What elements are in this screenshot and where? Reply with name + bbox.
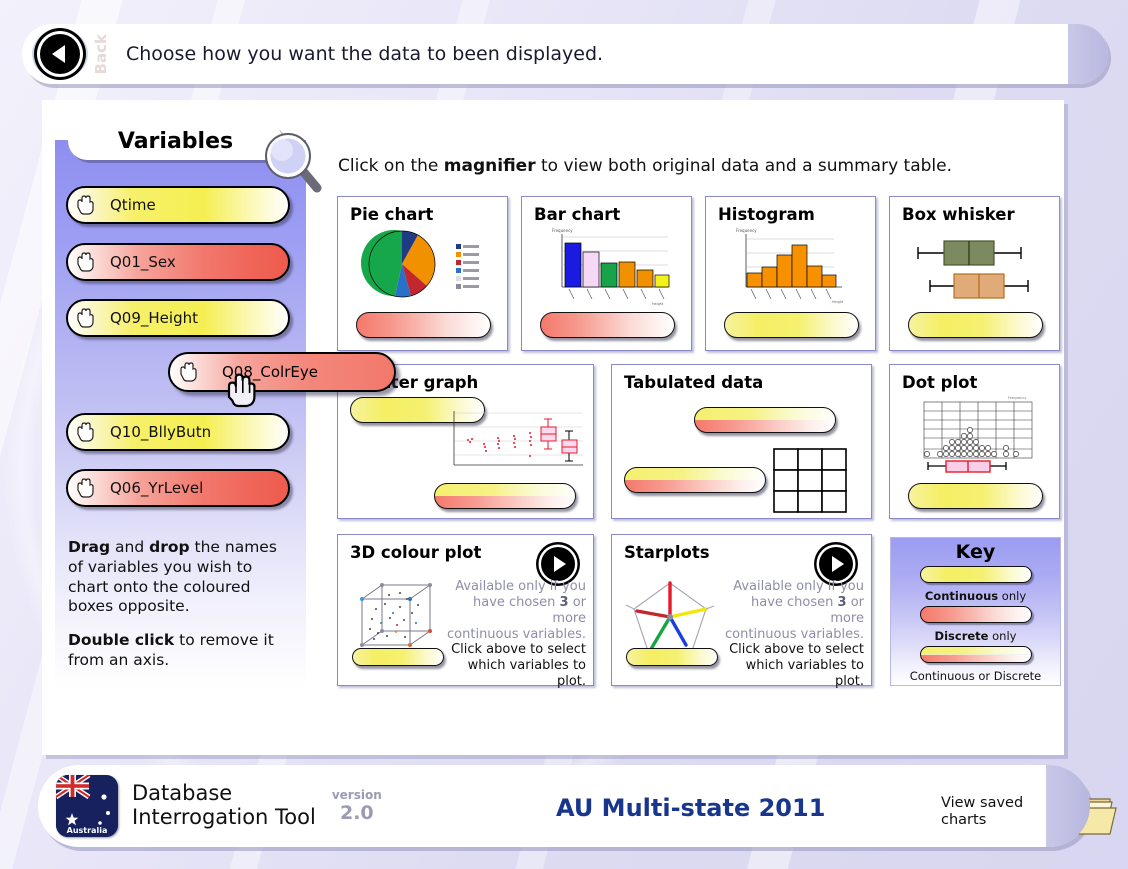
dot-plot-thumb: Frequency <box>898 391 1050 475</box>
drop-slot-continuous[interactable] <box>908 312 1043 338</box>
drop-slot-both-1[interactable] <box>694 407 836 433</box>
dataset-title: AU Multi-state 2011 <box>556 794 825 822</box>
drag-hand-icon <box>68 188 104 222</box>
version-number: 2.0 <box>332 802 382 824</box>
card-title: Starplots <box>624 543 710 562</box>
key-caption-continuous: Continuous only <box>891 589 1060 603</box>
note-line-1: Available only if you <box>722 579 864 595</box>
app-name-line2: Interrogation Tool <box>132 806 316 830</box>
availability-note: Available only if you have chosen 3 or m… <box>722 579 864 690</box>
version-info: version 2.0 <box>332 788 382 824</box>
note-pre: have chosen <box>751 595 838 610</box>
note-line-1: Available only if you <box>446 579 586 595</box>
key-caption-discrete: Discrete only <box>891 629 1060 643</box>
key-swatch-both <box>920 646 1032 663</box>
note-count: 3 <box>560 595 569 610</box>
back-button[interactable] <box>32 31 88 77</box>
key-panel: Key Continuous only Discrete only Contin… <box>890 537 1061 686</box>
drop-slot-continuous[interactable] <box>724 312 859 338</box>
header-bar: Back Choose how you want the data to bee… <box>22 24 1108 84</box>
svg-text:Frequency: Frequency <box>552 228 573 233</box>
svg-text:Frequency: Frequency <box>1008 396 1027 400</box>
card-dot-plot[interactable]: Dot plot Frequency <box>889 364 1060 519</box>
card-histogram[interactable]: Histogram Frequency Height <box>705 196 876 351</box>
starplot-thumb <box>624 575 720 657</box>
card-box-whisker[interactable]: Box whisker <box>889 196 1060 351</box>
help-mid: and <box>110 538 149 556</box>
card-title: Histogram <box>718 205 815 224</box>
drop-slot-both-2[interactable] <box>624 467 766 493</box>
grab-hand-cursor <box>222 370 264 418</box>
drop-slot-discrete[interactable] <box>356 312 491 338</box>
card-title: Tabulated data <box>624 373 763 392</box>
note-line-3: continuous variables. <box>722 627 864 643</box>
scatter-graph-thumb <box>438 407 588 479</box>
help-line-drag-drop: Drag and drop the names of variables you… <box>68 538 293 617</box>
variable-chip-label: Q01_Sex <box>104 253 176 271</box>
bar-chart-thumb: Frequency Height <box>540 225 680 307</box>
card-3d-colour-plot[interactable]: 3D colour plot Available only if you hav… <box>337 534 594 686</box>
drop-slot-both-x[interactable] <box>434 483 576 509</box>
svg-text:Frequency: Frequency <box>736 228 757 233</box>
note-line-2: have chosen 3 or more <box>446 595 586 627</box>
help-bold-dblclick: Double click <box>68 631 174 649</box>
back-button-label: Back <box>92 34 110 74</box>
sidebar-help-text: Drag and drop the names of variables you… <box>68 538 293 671</box>
hint-bold: magnifier <box>444 156 536 176</box>
key-caption-rest: only <box>988 629 1016 643</box>
note-pre: have chosen <box>473 595 560 610</box>
svg-text:Height: Height <box>652 302 664 306</box>
box-whisker-thumb <box>904 231 1049 303</box>
table-grid-thumb <box>772 447 850 519</box>
variable-chip-q10-bllybutn[interactable]: Q10_BllyButn <box>66 413 290 451</box>
back-arrow-icon <box>40 34 80 74</box>
key-entry-continuous: Continuous only <box>891 566 1060 603</box>
view-saved-charts-label: View saved charts <box>941 795 1023 830</box>
card-title: Dot plot <box>902 373 977 392</box>
variable-chip-label: Qtime <box>104 196 156 214</box>
variable-chip-q06-yrlevel[interactable]: Q06_YrLevel <box>66 469 290 507</box>
card-pie-chart[interactable]: Pie chart <box>337 196 508 351</box>
drag-hand-icon <box>68 415 104 449</box>
key-entry-discrete: Discrete only <box>891 606 1060 643</box>
drop-slot-continuous[interactable] <box>352 648 444 666</box>
variable-chip-label: Q09_Height <box>104 309 198 327</box>
histogram-thumb: Frequency Height <box>724 225 864 307</box>
magnifier-hint: Click on the magnifier to view both orig… <box>338 156 952 176</box>
variable-chip-q01-sex[interactable]: Q01_Sex <box>66 243 290 281</box>
version-word: version <box>332 788 382 802</box>
svg-text:Height: Height <box>832 300 844 304</box>
note-line-5: which variables to plot. <box>722 658 864 690</box>
key-swatch-continuous <box>920 566 1032 583</box>
key-swatch-discrete <box>920 606 1032 623</box>
card-title: 3D colour plot <box>350 543 481 562</box>
card-title: Box whisker <box>902 205 1015 224</box>
help-line-double-click: Double click to remove it from an axis. <box>68 631 293 671</box>
drop-slot-continuous[interactable] <box>626 648 718 666</box>
drag-hand-icon <box>170 361 208 383</box>
app-name-line1: Database <box>132 782 316 806</box>
drop-slot-discrete[interactable] <box>540 312 675 338</box>
card-title: Pie chart <box>350 205 433 224</box>
dragged-variable-chip[interactable]: Q08_ColrEye <box>168 352 396 392</box>
card-tabulated-data[interactable]: Tabulated data <box>611 364 872 519</box>
svg-text:Australia: Australia <box>67 826 108 835</box>
note-line-4: Click above to select <box>722 642 864 658</box>
app-name: Database Interrogation Tool <box>132 782 316 829</box>
drag-hand-icon <box>68 301 104 335</box>
header-instruction: Choose how you want the data to been dis… <box>126 43 603 65</box>
folder-magnifier-icon[interactable] <box>1054 780 1120 838</box>
key-entry-both: Continuous or Discrete <box>891 646 1060 683</box>
variable-chip-q09-height[interactable]: Q09_Height <box>66 299 290 337</box>
key-title: Key <box>891 538 1060 563</box>
help-bold-drop: drop <box>149 538 189 556</box>
note-line-2: have chosen 3 or more <box>722 595 864 627</box>
note-count: 3 <box>838 595 847 610</box>
pie-chart-thumb <box>356 225 496 303</box>
key-caption-rest: only <box>998 589 1026 603</box>
play-button-icon[interactable] <box>541 547 575 581</box>
card-bar-chart[interactable]: Bar chart Frequency Height <box>521 196 692 351</box>
cube-3d-thumb <box>352 577 442 655</box>
note-line-5: which variables to plot. <box>446 658 586 690</box>
note-line-3: continuous variables. <box>446 627 586 643</box>
hint-prefix: Click on the <box>338 156 444 176</box>
magnifier-icon[interactable] <box>262 132 324 194</box>
note-line-4: Click above to select <box>446 642 586 658</box>
card-title: Bar chart <box>534 205 620 224</box>
saved-line2: charts <box>941 812 1023 829</box>
australia-flag-icon: Australia <box>56 775 118 837</box>
key-caption-bold: Continuous <box>925 589 998 603</box>
hint-suffix: to view both original data and a summary… <box>536 156 952 176</box>
drop-slot-continuous[interactable] <box>908 483 1043 509</box>
drag-hand-icon <box>68 245 104 279</box>
saved-line1: View saved <box>941 795 1023 812</box>
variable-chip-label: Q10_BllyButn <box>104 423 211 441</box>
key-caption-both: Continuous or Discrete <box>891 669 1060 683</box>
help-bold-drag: Drag <box>68 538 110 556</box>
footer-bar: Australia Database Interrogation Tool ve… <box>38 765 1090 847</box>
play-button-icon[interactable] <box>819 547 853 581</box>
drag-hand-icon <box>68 471 104 505</box>
variable-chip-qtime[interactable]: Qtime <box>66 186 290 224</box>
variable-chip-label: Q06_YrLevel <box>104 479 203 497</box>
availability-note: Available only if you have chosen 3 or m… <box>446 579 586 690</box>
key-caption-bold: Discrete <box>935 629 989 643</box>
variables-panel-title: Variables <box>68 122 283 160</box>
card-starplots[interactable]: Starplots Available only if you have cho… <box>611 534 872 686</box>
